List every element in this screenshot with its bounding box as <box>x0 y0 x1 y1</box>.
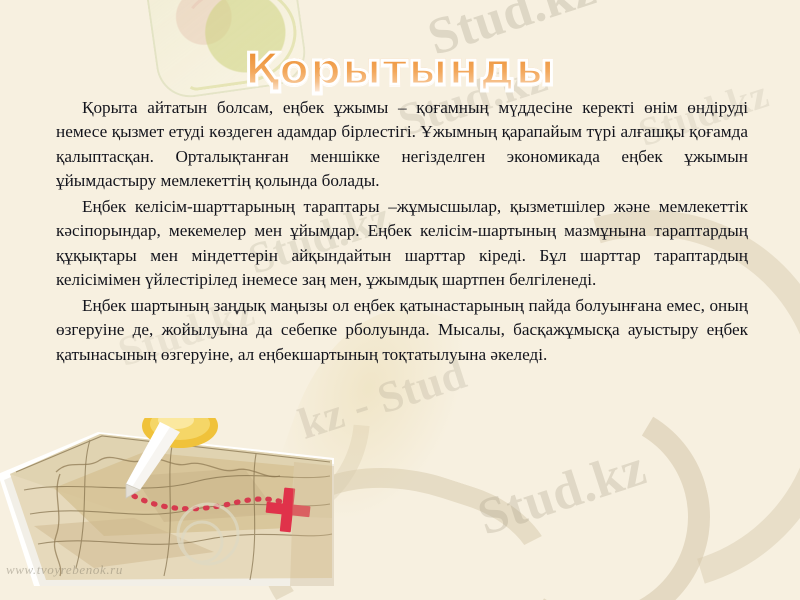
source-credit-watermark: www.tvoyrebenok.ru <box>6 562 123 578</box>
map-edge-shadow <box>290 462 334 586</box>
paragraph: Еңбек келісім-шарттарының тараптары –жұм… <box>56 195 748 292</box>
treasure-map-illustration <box>0 418 334 586</box>
watermark-text: Stud.kz <box>471 438 653 547</box>
paragraph: Қорыта айтатын болсам, еңбек ұжымы – қоғ… <box>56 96 748 193</box>
slide-body-text: Қорыта айтатын болсам, еңбек ұжымы – қоғ… <box>56 96 748 367</box>
slide-title: Қорытынды <box>0 47 800 93</box>
swirl-ornament-icon <box>451 375 735 600</box>
paragraph: Еңбек шартының заңдық маңызы ол еңбек қа… <box>56 294 748 367</box>
presentation-slide: Stud.kz Stud.kz Stud.kz kz - Stud Stud.k… <box>0 0 800 600</box>
